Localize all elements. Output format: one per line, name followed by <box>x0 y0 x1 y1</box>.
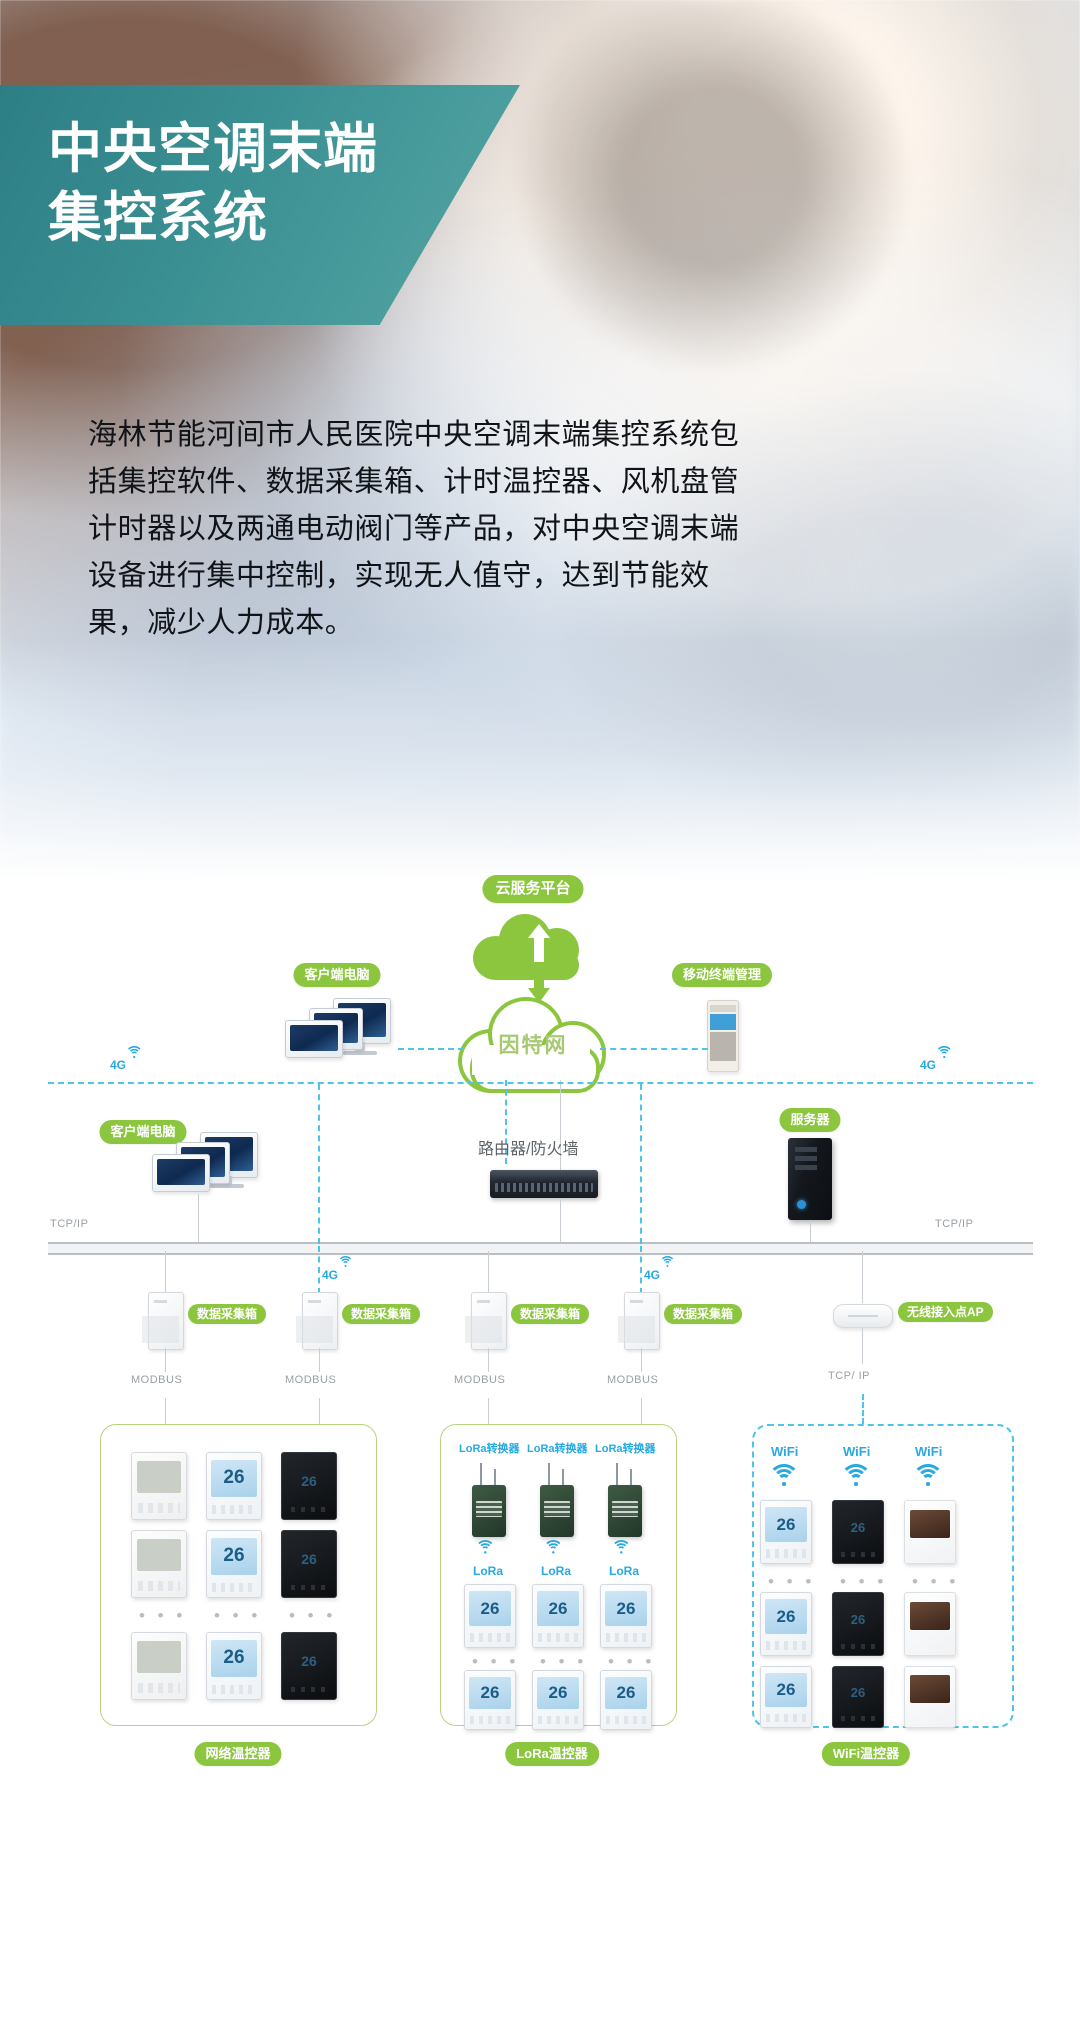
data-box-label-3: 数据采集箱 <box>511 1304 589 1324</box>
link-internet-to-mobile <box>600 1048 708 1050</box>
lora-converter-icon-1 <box>472 1485 506 1537</box>
signal-icon-right <box>936 1046 953 1058</box>
lora-link-label-3: LoRa <box>609 1564 639 1578</box>
ellipsis-lora-2: • • • <box>540 1652 587 1672</box>
wifi-thermostat-3 <box>904 1500 956 1564</box>
data-collector-icon-2 <box>302 1292 338 1350</box>
server-label: 服务器 <box>779 1108 840 1132</box>
thermostat-blue-1: 26 <box>206 1452 262 1520</box>
thermostat-reading-6: 26 <box>290 1650 329 1672</box>
data-collector-icon-1 <box>148 1292 184 1350</box>
thermostat-grey-3 <box>131 1632 187 1700</box>
wifi-reading-4: 26 <box>840 1609 876 1630</box>
tcpip-label-left: TCP/IP <box>50 1218 88 1230</box>
network-group-label: 网络温控器 <box>194 1742 281 1766</box>
tcpip-label-right: TCP/IP <box>935 1218 973 1230</box>
ellipsis-net-3: • • • <box>289 1606 336 1626</box>
data-box-label-1: 数据采集箱 <box>188 1304 266 1324</box>
client-pc-mid-icon <box>152 1132 262 1198</box>
modbus-label-3: MODBUS <box>454 1374 505 1386</box>
link-to-network-group-2 <box>319 1398 320 1424</box>
fourg-label-mid-2: 4G <box>644 1268 660 1282</box>
wireless-ap-icon <box>833 1304 893 1328</box>
lora-group-label: LoRa温控器 <box>505 1742 599 1766</box>
wifi-thermostat-7: 26 <box>760 1666 812 1728</box>
data-collector-icon-3 <box>471 1292 507 1350</box>
fourg-label-mid-1: 4G <box>322 1268 338 1282</box>
link-server-to-bus <box>810 1220 811 1242</box>
wifi-reading-5: 26 <box>765 1673 807 1707</box>
thermostat-grey-2 <box>131 1530 187 1598</box>
lora-thermostat-3: 26 <box>600 1584 652 1648</box>
ellipsis-wifi-3: • • • <box>912 1572 959 1592</box>
drop-collector-1 <box>165 1251 166 1293</box>
link-router-to-bus <box>560 1198 561 1242</box>
data-box-label-wrap-3: 数据采集箱 <box>511 1304 589 1324</box>
link-clientpc-to-bus <box>198 1194 199 1242</box>
cloud-platform-label: 云服务平台 <box>482 875 583 903</box>
link-to-wifi-group <box>862 1394 864 1424</box>
ellipsis-lora-3: • • • <box>608 1652 655 1672</box>
signal-icon-mid-2 <box>660 1256 675 1267</box>
signal-icon-left <box>126 1046 143 1058</box>
ellipsis-net-2: • • • <box>214 1606 261 1626</box>
mobile-phone-icon <box>707 1000 739 1072</box>
modbus-line-4 <box>641 1348 642 1372</box>
wifi-group-label-wrap: WiFi温控器 <box>822 1742 910 1766</box>
lora-signal-icon-2 <box>544 1540 563 1554</box>
lora-converter-label-3: LoRa转换器 <box>595 1440 656 1456</box>
hero-section: 中央空调末端 集控系统 海林节能河间市人民医院中央空调末端集控系统包括集控软件、… <box>0 0 1080 880</box>
thermostat-grey-1 <box>131 1452 187 1520</box>
thermostat-reading-2: 26 <box>290 1470 329 1492</box>
lora-thermostat-6: 26 <box>600 1670 652 1730</box>
modbus-line-2 <box>319 1348 320 1372</box>
wifi-group-label: WiFi温控器 <box>822 1742 910 1766</box>
wifi-thermostat-8: 26 <box>832 1666 884 1728</box>
thermostat-dark-3: 26 <box>281 1632 337 1700</box>
ellipsis-net-1: • • • <box>139 1606 186 1626</box>
data-box-label-2: 数据采集箱 <box>342 1304 420 1324</box>
ellipsis-wifi-1: • • • <box>768 1572 815 1592</box>
data-box-label-wrap-1: 数据采集箱 <box>188 1304 266 1324</box>
data-box-label-4: 数据采集箱 <box>664 1304 742 1324</box>
lora-signal-icon-1 <box>476 1540 495 1554</box>
wifi-icon-2 <box>841 1464 871 1486</box>
wifi-thermostat-2: 26 <box>832 1500 884 1564</box>
link-to-network-group <box>165 1398 166 1424</box>
wifi-thermostat-1: 26 <box>760 1500 812 1564</box>
lora-reading-1: 26 <box>469 1591 511 1626</box>
modbus-line-3 <box>488 1348 489 1372</box>
lora-thermostat-1: 26 <box>464 1584 516 1648</box>
page-title-line-1: 中央空调末端 <box>48 115 528 184</box>
lora-converter-icon-3 <box>608 1485 642 1537</box>
lora-reading-5: 26 <box>537 1677 579 1709</box>
wifi-link-label-3: WiFi <box>915 1444 942 1459</box>
ap-label: 无线接入点AP <box>898 1302 993 1322</box>
wifi-thermostat-4: 26 <box>760 1592 812 1656</box>
page-title: 中央空调末端 集控系统 <box>48 115 528 253</box>
modbus-label-1: MODBUS <box>131 1374 182 1386</box>
thermostat-dark-2: 26 <box>281 1530 337 1598</box>
lora-converter-label-1: LoRa转换器 <box>459 1440 520 1456</box>
lora-signal-icon-3 <box>612 1540 631 1554</box>
lora-thermostat-5: 26 <box>532 1670 584 1730</box>
wireless-drop-1b <box>318 1246 320 1294</box>
ap-drop-line <box>862 1328 863 1364</box>
lora-link-label-1: LoRa <box>473 1564 503 1578</box>
tcpip-label-ap: TCP/ IP <box>828 1370 870 1382</box>
system-architecture-diagram: 云服务平台 因特网 客户端电脑 <box>0 880 1080 2040</box>
wireless-drop-2b <box>640 1246 642 1294</box>
lora-link-label-2: LoRa <box>541 1564 571 1578</box>
data-collector-icon-4 <box>624 1292 660 1350</box>
lora-reading-4: 26 <box>469 1677 511 1709</box>
wifi-icon-1 <box>769 1464 799 1486</box>
network-group-label-wrap: 网络温控器 <box>194 1742 281 1766</box>
wifi-thermostat-5: 26 <box>832 1592 884 1656</box>
drop-ap <box>862 1251 863 1303</box>
internet-label: 因特网 <box>458 1029 608 1059</box>
wifi-reading-2: 26 <box>840 1517 876 1538</box>
modbus-label-4: MODBUS <box>607 1374 658 1386</box>
wifi-icon-3 <box>913 1464 943 1486</box>
router-firewall-icon <box>490 1170 598 1198</box>
wireless-drop-2 <box>640 1084 642 1244</box>
wifi-reading-1: 26 <box>765 1507 807 1542</box>
thermostat-blue-3: 26 <box>206 1632 262 1700</box>
tcpip-bus-line <box>48 1242 1033 1255</box>
router-firewall-label: 路由器/防火墙 <box>478 1135 578 1159</box>
intro-paragraph: 海林节能河间市人民医院中央空调末端集控系统包括集控软件、数据采集箱、计时温控器、… <box>88 412 768 647</box>
ellipsis-wifi-2: • • • <box>840 1572 887 1592</box>
client-pc-top-label-wrap: 客户端电脑 <box>293 963 380 987</box>
thermostat-reading-4: 26 <box>290 1548 329 1570</box>
wifi-thermostat-6 <box>904 1592 956 1656</box>
thermostat-blue-2: 26 <box>206 1530 262 1598</box>
lora-thermostat-4: 26 <box>464 1670 516 1730</box>
thermostat-dark-1: 26 <box>281 1452 337 1520</box>
lora-reading-3: 26 <box>605 1591 647 1626</box>
wifi-link-label-2: WiFi <box>843 1444 870 1459</box>
wifi-reading-6: 26 <box>840 1683 876 1703</box>
modbus-line-1 <box>165 1348 166 1372</box>
link-pc-to-internet <box>398 1048 464 1050</box>
lora-reading-2: 26 <box>537 1591 579 1626</box>
lora-reading-6: 26 <box>605 1677 647 1709</box>
signal-icon-mid-1 <box>338 1256 353 1267</box>
cloud-service-icon <box>473 910 593 984</box>
thermostat-reading-3: 26 <box>211 1538 256 1575</box>
cloud-platform-label-wrap: 云服务平台 <box>482 875 583 903</box>
thermostat-reading-1: 26 <box>211 1460 256 1497</box>
ap-label-wrap: 无线接入点AP <box>898 1302 993 1322</box>
drop-collector-3 <box>488 1251 489 1293</box>
lora-converter-label-2: LoRa转换器 <box>527 1440 588 1456</box>
ellipsis-lora-1: • • • <box>472 1652 519 1672</box>
fourg-label-right: 4G <box>920 1058 936 1072</box>
modbus-label-2: MODBUS <box>285 1374 336 1386</box>
link-to-lora-group <box>488 1398 489 1424</box>
mobile-terminal-label: 移动终端管理 <box>672 963 772 987</box>
thermostat-reading-5: 26 <box>211 1640 256 1677</box>
client-pc-top-icon <box>285 998 395 1066</box>
infographic-page: 中央空调末端 集控系统 海林节能河间市人民医院中央空调末端集控系统包括集控软件、… <box>0 0 1080 2040</box>
page-title-line-2: 集控系统 <box>48 184 528 253</box>
server-tower-icon <box>788 1138 832 1220</box>
link-to-lora-group-2 <box>641 1398 642 1424</box>
lora-group-label-wrap: LoRa温控器 <box>505 1742 599 1766</box>
wifi-link-label-1: WiFi <box>771 1444 798 1459</box>
wifi-reading-3: 26 <box>765 1599 807 1634</box>
mobile-terminal-label-wrap: 移动终端管理 <box>672 963 772 987</box>
data-box-label-wrap-4: 数据采集箱 <box>664 1304 742 1324</box>
lora-thermostat-2: 26 <box>532 1584 584 1648</box>
client-pc-top-label: 客户端电脑 <box>293 963 380 987</box>
wifi-thermostat-9 <box>904 1666 956 1728</box>
hero-bottom-fade <box>0 640 1080 880</box>
wireless-drop-1 <box>318 1084 320 1244</box>
data-box-label-wrap-2: 数据采集箱 <box>342 1304 420 1324</box>
wireless-backbone-line <box>48 1082 1033 1084</box>
fourg-label-left: 4G <box>110 1058 126 1072</box>
server-label-wrap: 服务器 <box>779 1108 840 1132</box>
lora-converter-icon-2 <box>540 1485 574 1537</box>
